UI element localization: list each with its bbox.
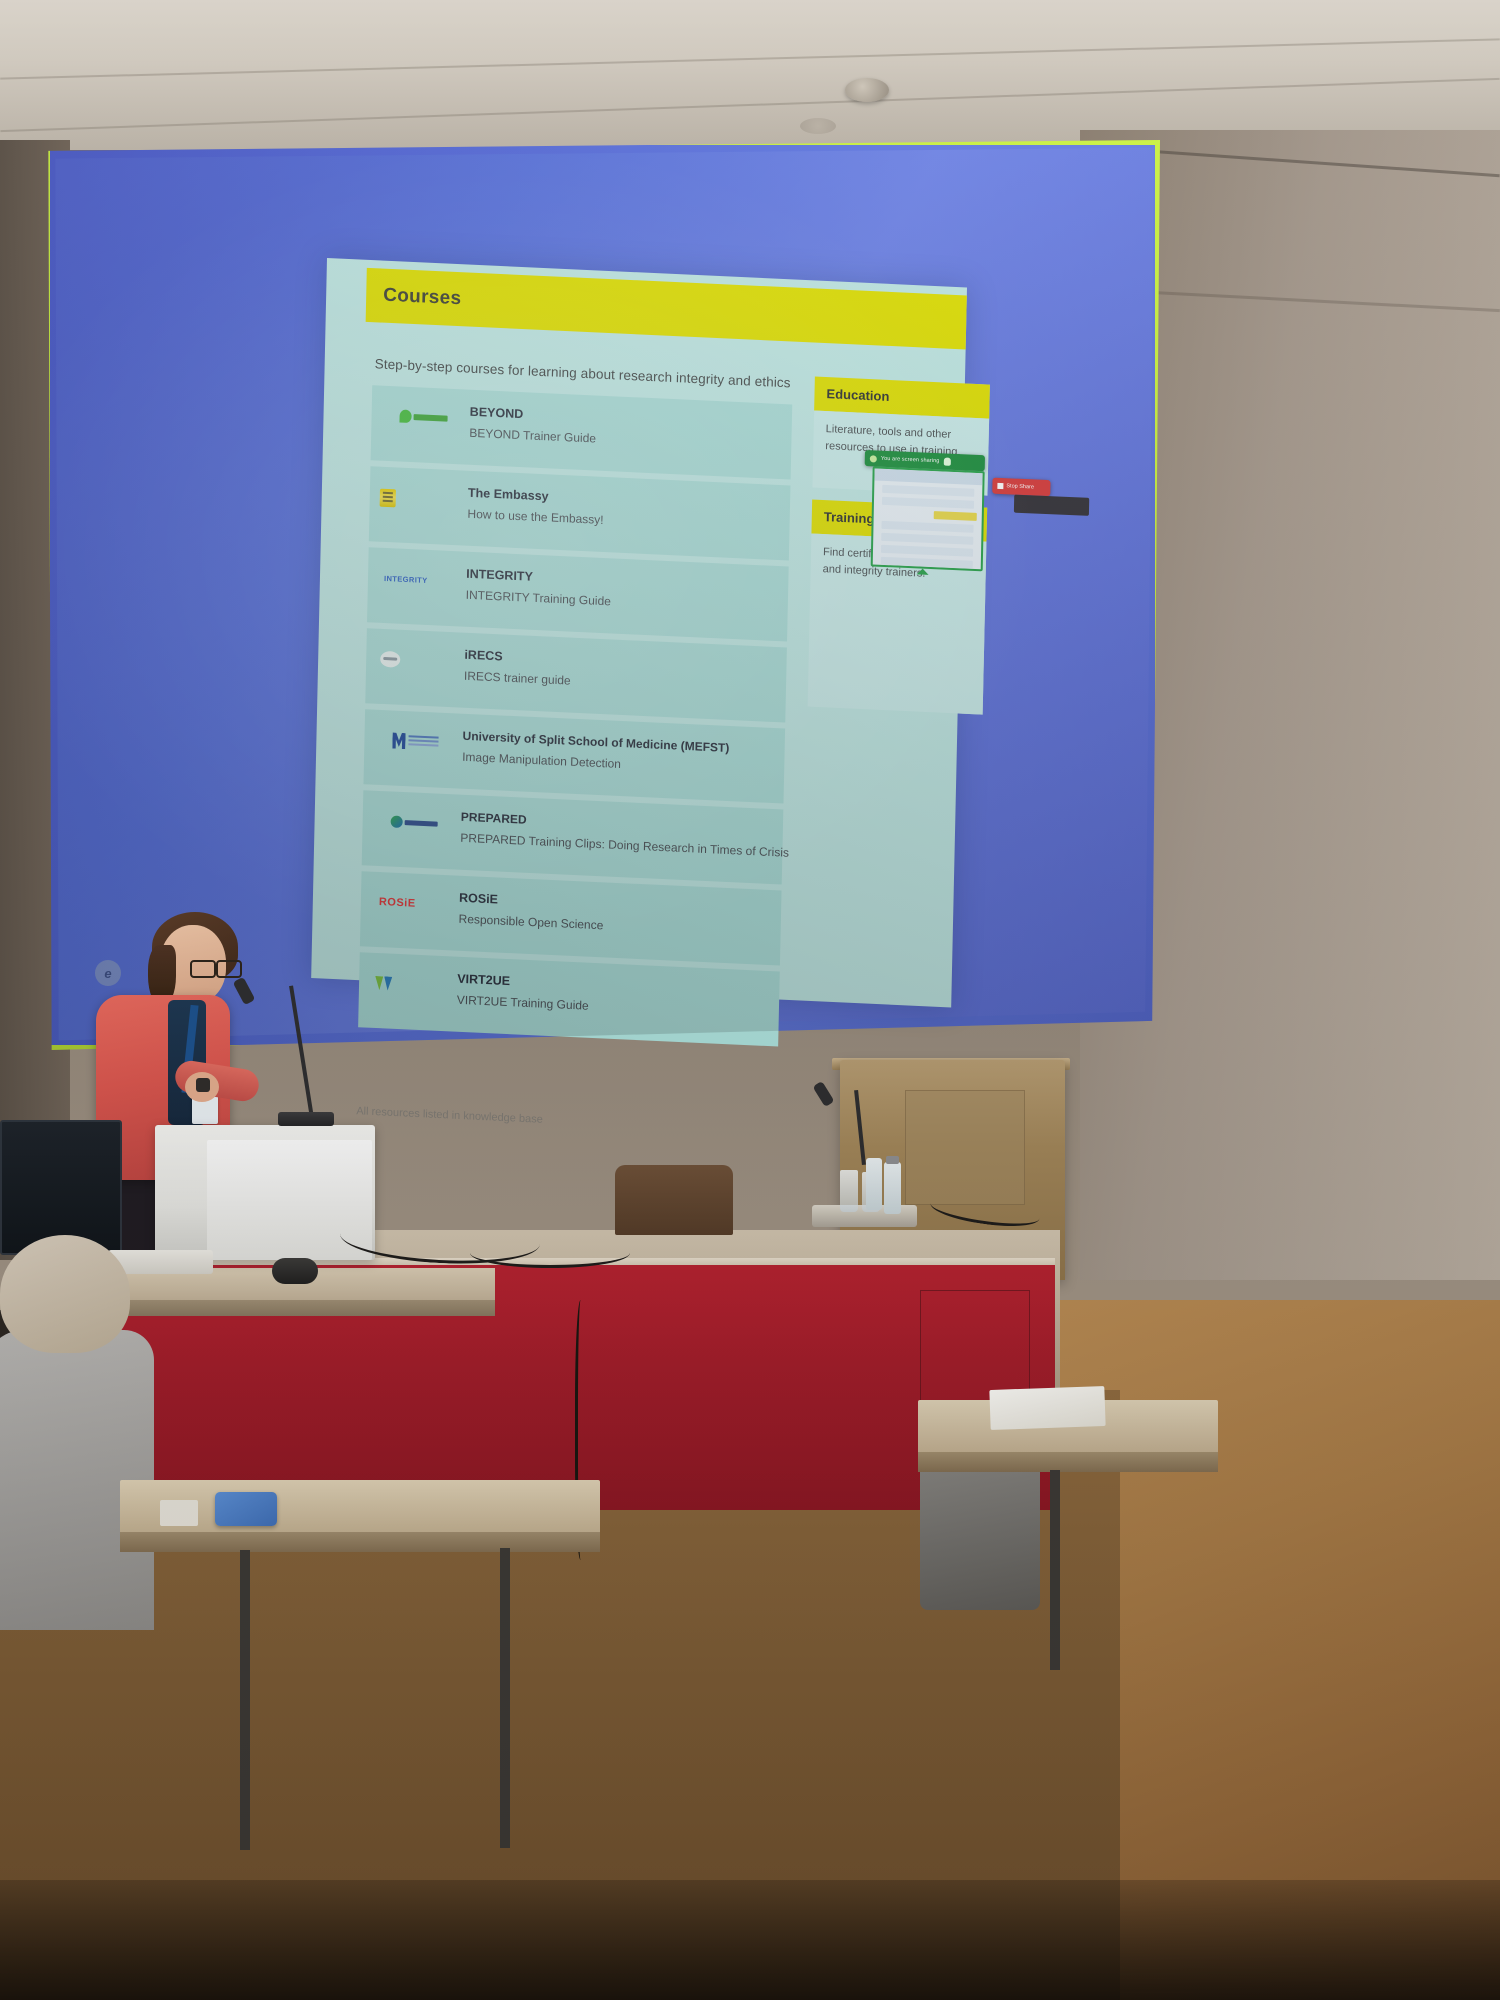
course-subtitle: IRECS trainer guide: [464, 669, 571, 688]
glasses-icon: [190, 960, 246, 974]
audience-desk-edge: [918, 1452, 1218, 1472]
foreground-shadow: [0, 1880, 1500, 2000]
course-title: iRECS: [464, 648, 503, 664]
course-title: INTEGRITY: [466, 567, 533, 584]
microphone-icon[interactable]: [943, 457, 950, 465]
course-subtitle: VIRT2UE Training Guide: [457, 993, 589, 1013]
mefst-logo-icon: [392, 732, 442, 750]
recording-dot-icon: [870, 455, 877, 462]
ceiling-speaker-icon: [845, 78, 889, 102]
list-item[interactable]: VIRT2UE VIRT2UE Training Guide: [358, 952, 780, 1046]
desk-leg: [500, 1548, 510, 1848]
virt2ue-logo-icon: [375, 975, 425, 993]
overlay-toolbar-shadow: [1014, 495, 1089, 516]
stop-share-button[interactable]: Stop Share: [992, 478, 1050, 497]
paper-stack: [160, 1500, 198, 1526]
irecs-logo-icon: [380, 651, 400, 668]
embassy-watermark-logo: e: [95, 960, 121, 986]
list-item[interactable]: PREPARED PREPARED Training Clips: Doing …: [362, 790, 784, 884]
course-subtitle: PREPARED Training Clips: Doing Research …: [460, 831, 789, 860]
smartphone[interactable]: [215, 1492, 277, 1526]
list-item[interactable]: ROSiE ROSiE Responsible Open Science: [360, 871, 782, 965]
course-subtitle: INTEGRITY Training Guide: [466, 588, 611, 609]
course-list: BEYOND BEYOND Trainer Guide The Embassy …: [358, 385, 792, 1052]
list-item[interactable]: University of Split School of Medicine (…: [363, 709, 785, 803]
thumb-row: [881, 545, 973, 557]
projection-screen: Courses Step-by-step courses for learnin…: [45, 140, 1160, 1050]
water-bottle: [884, 1162, 901, 1214]
embassy-logo-icon: [380, 489, 396, 508]
sharing-status-text: You are screen sharing: [881, 456, 940, 465]
audience-desk-edge: [120, 1532, 600, 1552]
list-item[interactable]: iRECS IRECS trainer guide: [365, 628, 787, 722]
projected-slide: Courses Step-by-step courses for learnin…: [311, 258, 967, 1007]
page-title: Courses: [383, 285, 462, 311]
thumb-row: [881, 557, 973, 569]
ceiling: [0, 0, 1500, 150]
thumb-row-highlight: [934, 511, 977, 521]
desk-leg: [240, 1550, 250, 1850]
paper-sheet: [989, 1386, 1105, 1430]
course-title: The Embassy: [468, 486, 549, 504]
thumb-header: [874, 468, 982, 485]
presenter-desk-edge: [105, 1300, 495, 1316]
beyond-logo-icon: [399, 408, 449, 426]
thumb-row: [881, 521, 973, 533]
cable: [470, 1238, 630, 1268]
podium-panel: [905, 1090, 1025, 1205]
course-title: VIRT2UE: [457, 972, 510, 988]
shared-screen-thumbnail[interactable]: [871, 466, 985, 571]
stop-square-icon: [997, 483, 1003, 489]
water-glass: [840, 1170, 858, 1212]
chair: [615, 1165, 733, 1235]
audience-member-head: [0, 1235, 130, 1353]
thumb-row: [882, 485, 974, 497]
course-subtitle: Image Manipulation Detection: [462, 750, 621, 771]
integrity-logo-icon: INTEGRITY: [384, 574, 440, 593]
chevron-up-icon[interactable]: [917, 568, 929, 575]
mouse[interactable]: [272, 1258, 318, 1284]
screen-share-overlay: You are screen sharing Stop Share: [862, 450, 1065, 589]
list-item[interactable]: INTEGRITY INTEGRITY INTEGRITY Training G…: [367, 547, 789, 641]
course-subtitle: BEYOND Trainer Guide: [469, 426, 596, 446]
ceiling-vent-icon: [800, 118, 836, 134]
course-title: ROSiE: [459, 891, 498, 907]
lecture-hall-photo: Courses Step-by-step courses for learnin…: [0, 0, 1500, 2000]
thumb-row: [881, 533, 973, 545]
list-item[interactable]: The Embassy How to use the Embassy!: [369, 466, 791, 560]
course-title: BEYOND: [470, 405, 524, 421]
water-bottle: [866, 1158, 882, 1210]
presentation-clicker[interactable]: [196, 1078, 210, 1092]
course-title: PREPARED: [461, 810, 527, 827]
rosie-logo-icon: ROSiE: [379, 896, 431, 914]
stop-share-label: Stop Share: [1006, 483, 1034, 490]
course-subtitle: Responsible Open Science: [458, 912, 603, 933]
microphone-base: [278, 1112, 334, 1126]
prepared-logo-icon: [391, 813, 441, 831]
bottle-cap: [886, 1156, 899, 1164]
thumb-row: [882, 497, 974, 509]
desk-leg: [1050, 1470, 1060, 1670]
course-subtitle: How to use the Embassy!: [467, 507, 603, 527]
